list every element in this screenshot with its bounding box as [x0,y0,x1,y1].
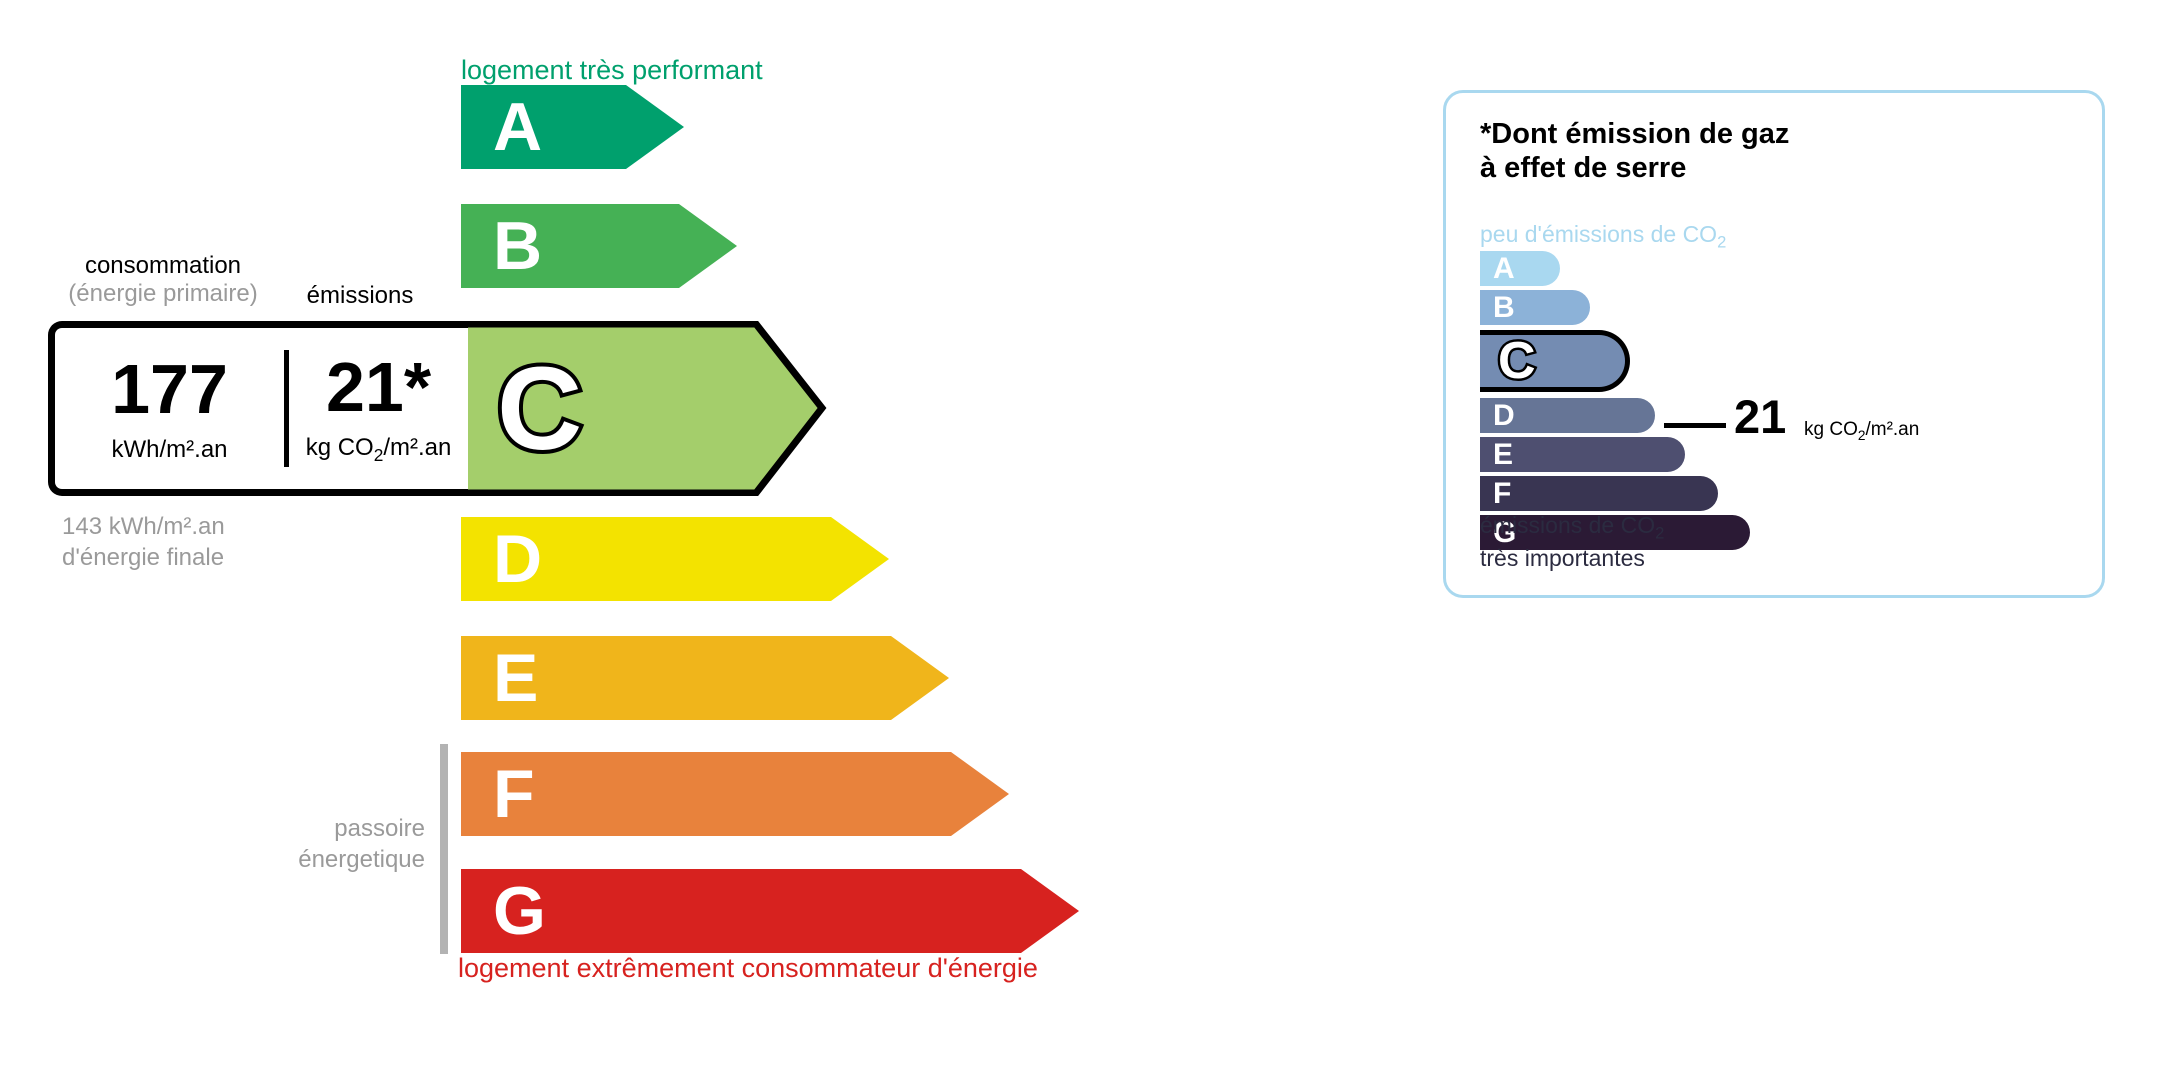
ghg-top-label: peu d'émissions de CO2 [1480,221,1726,253]
energy-class-row-c: C [461,321,831,496]
co2-bar-a [1480,251,1560,286]
ghg-bottom-label-line1: émissions de CO2 [1480,511,1664,544]
passoire-label-line1: passoire [230,814,425,845]
energy-class-letter-g: G [493,877,546,945]
ghg-bottom-label-sub: 2 [1655,524,1664,543]
ghg-bottom-label: émissions de CO2 très importantes [1480,511,1664,572]
co2-row-f: F [1480,476,1750,511]
co2-letter-b: B [1493,293,1515,323]
ghg-panel: *Dont émission de gaz à effet de serre p… [1443,90,2105,598]
energy-class-row-a: A [461,85,691,169]
co2-letter-a: A [1493,254,1515,284]
co2-letter-c: C [1498,335,1536,387]
energy-class-letter-f: F [493,760,535,828]
ghg-bottom-label-line2: très importantes [1480,544,1664,572]
final-energy-line2: d'énergie finale [62,543,225,574]
co2-leader-line [1664,423,1726,428]
passoire-bracket [440,744,448,954]
scale-bottom-label: logement extrêmement consommateur d'éner… [458,953,1038,984]
value-box: 177 kWh/m².an 21* kg CO2/m².an [48,321,468,496]
ghg-top-label-text: peu d'émissions de CO [1480,221,1717,247]
co2-value-unit-suffix: /m².an [1865,419,1919,440]
co2-bar-list: A B C D E F G [1480,251,1750,554]
co2-row-c: C [1480,330,1750,392]
passoire-label: passoire énergetique [230,814,425,875]
arrow-shape-f [461,752,1016,836]
energy-class-letter-a: A [493,93,542,161]
energy-class-letter-e: E [493,644,538,712]
emissions-heading: émissions [285,282,435,310]
energy-class-row-d: D [461,517,896,601]
ghg-panel-title: *Dont émission de gaz à effet de serre [1480,118,1789,185]
co2-row-b: B [1480,290,1750,325]
arrow-shape-g [461,869,1086,953]
final-energy-line1: 143 kWh/m².an [62,512,225,543]
energy-class-row-g: G [461,869,1086,953]
emissions-cell: 21* kg CO2/m².an [289,328,468,489]
emissions-unit-prefix: kg CO [306,434,374,461]
consumption-heading: consommation (énergie primaire) [48,252,278,307]
energy-class-letter-d: D [493,525,542,593]
final-energy-note: 143 kWh/m².an d'énergie finale [62,512,225,573]
co2-row-e: E [1480,437,1750,472]
energy-class-row-e: E [461,636,956,720]
consumption-heading-main: consommation [48,252,278,280]
ghg-top-label-sub: 2 [1717,233,1726,252]
emissions-value: 21* [326,352,431,422]
co2-letter-d: D [1493,401,1515,431]
energy-class-letter-b: B [493,212,542,280]
emissions-unit-sub: 2 [374,444,384,464]
co2-value-unit-prefix: kg CO [1804,419,1858,440]
consumption-heading-sub: (énergie primaire) [48,280,278,308]
emissions-unit-suffix: /m².an [383,434,451,461]
consumption-unit: kWh/m².an [112,436,228,464]
passoire-label-line2: énergetique [230,845,425,876]
co2-letter-f: F [1493,479,1511,509]
co2-bar-f [1480,476,1718,511]
consumption-value: 177 [111,354,228,424]
scale-top-label: logement très performant [461,55,763,86]
co2-letter-e: E [1493,440,1513,470]
energy-class-letter-c: C [497,350,582,468]
dpe-infographic: logement très performant A B [0,0,2169,1079]
co2-value-unit: kg CO2/m².an [1804,419,1919,443]
ghg-title-line2: à effet de serre [1480,152,1789,186]
co2-row-a: A [1480,251,1750,286]
consumption-cell: 177 kWh/m².an [55,328,284,489]
ghg-title-line1: *Dont émission de gaz [1480,118,1789,152]
energy-class-row-f: F [461,752,1016,836]
energy-class-row-b: B [461,204,746,288]
energy-performance-scale: logement très performant A B [0,0,1400,1079]
ghg-bottom-label-text: émissions de CO [1480,512,1655,538]
emissions-unit: kg CO2/m².an [306,434,452,466]
co2-value: 21 [1734,393,1786,440]
